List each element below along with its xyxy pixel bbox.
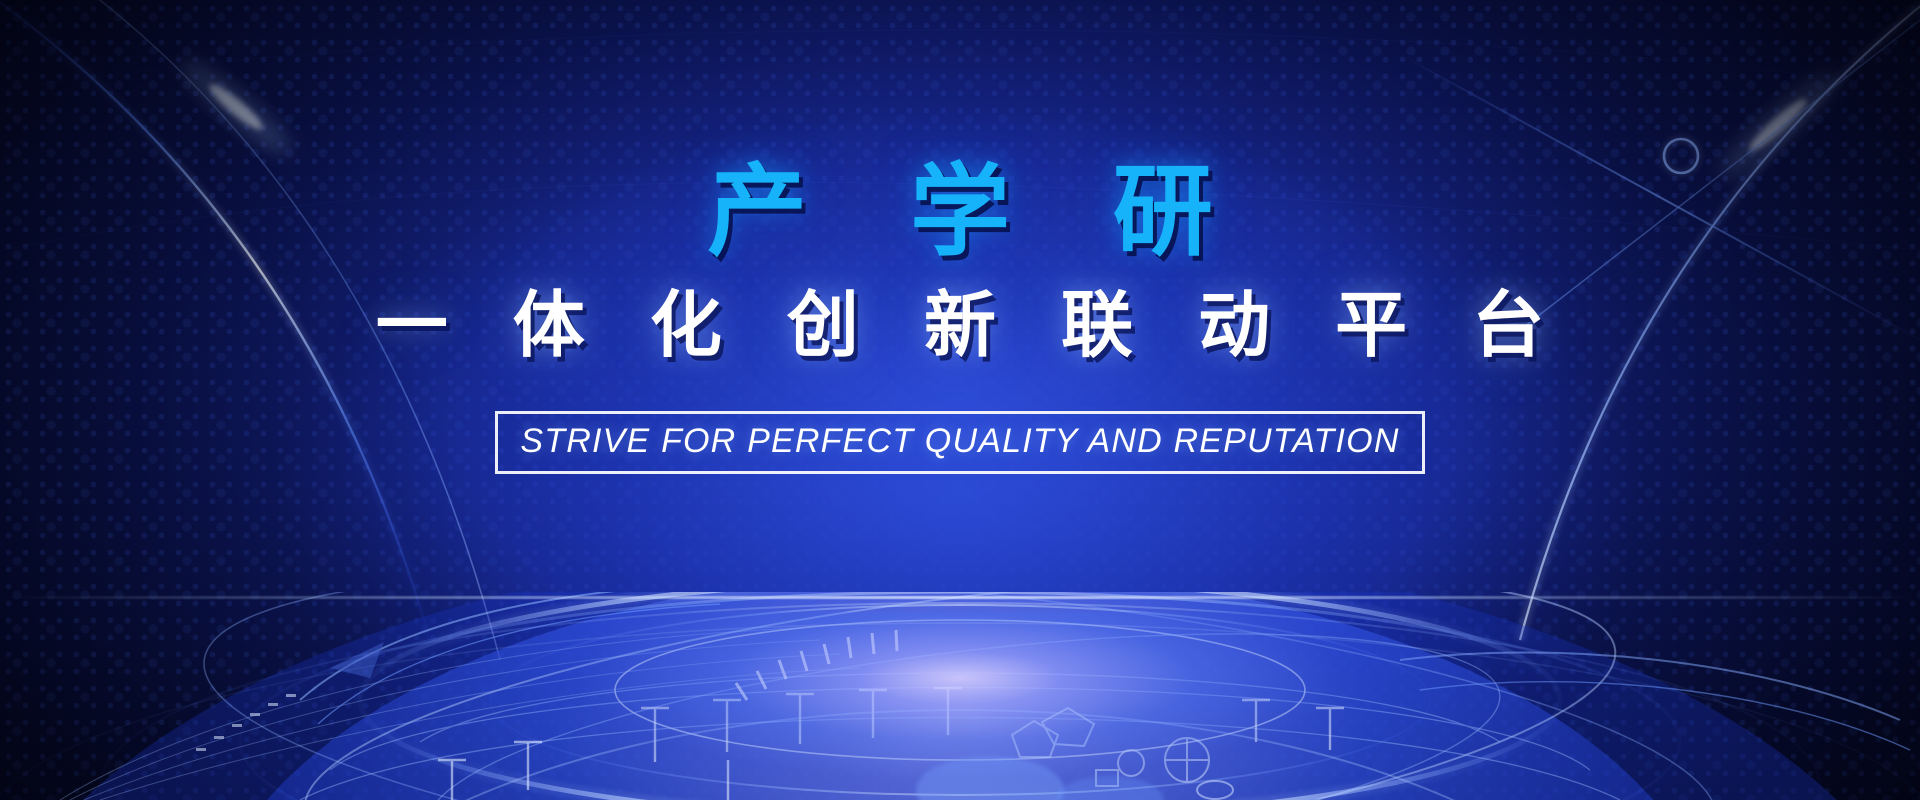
banner-root: 产 学 研 一 体 化 创 新 联 动 平 台 STRIVE FOR PERFE…: [0, 0, 1920, 800]
sphere-core-glow: [370, 612, 1550, 800]
page-subtitle: 一 体 化 创 新 联 动 平 台: [0, 264, 1920, 365]
slogan-text: STRIVE FOR PERFECT QUALITY AND REPUTATIO…: [495, 411, 1424, 474]
page-title: 产 学 研: [0, 0, 1920, 264]
slogan-wrapper: STRIVE FOR PERFECT QUALITY AND REPUTATIO…: [495, 411, 1424, 474]
horizon-line: [0, 596, 1920, 599]
banner-content: 产 学 研 一 体 化 创 新 联 动 平 台 STRIVE FOR PERFE…: [0, 0, 1920, 474]
